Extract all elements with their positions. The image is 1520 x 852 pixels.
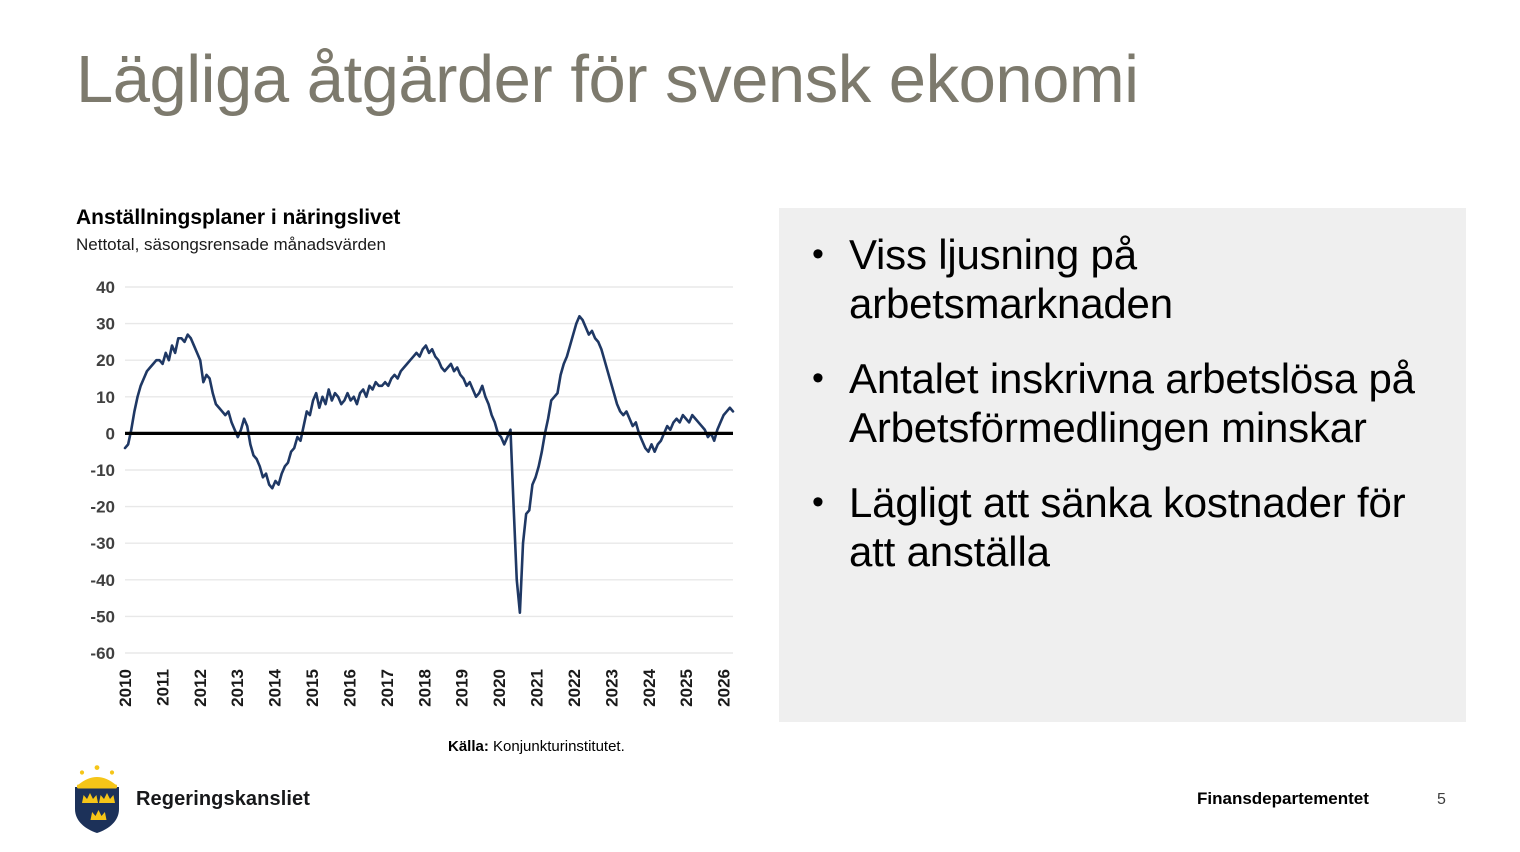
svg-text:2020: 2020 xyxy=(490,669,509,707)
key-points-panel: • Viss ljusning på arbetsmarknaden • Ant… xyxy=(779,208,1466,722)
svg-text:2024: 2024 xyxy=(640,668,659,706)
bullet-text: Viss ljusning på arbetsmarknaden xyxy=(849,230,1448,328)
swedish-three-crowns-emblem-icon xyxy=(70,765,124,833)
chart-source-note: Källa: Konjunkturinstitutet. xyxy=(448,738,625,755)
list-item: • Antalet inskrivna arbetslösa på Arbets… xyxy=(787,354,1448,452)
chart-x-axis-labels: 2010201120122013201420152016201720182019… xyxy=(116,668,734,706)
page-title: Lägliga åtgärder för svensk ekonomi xyxy=(76,46,1416,113)
svg-text:10: 10 xyxy=(96,388,115,407)
bullet-text: Lägligt att sänka kostnader för att anst… xyxy=(849,478,1448,576)
svg-text:2015: 2015 xyxy=(303,669,322,707)
bullet-dot-icon: • xyxy=(787,478,849,527)
svg-text:2025: 2025 xyxy=(677,669,696,707)
source-value: Konjunkturinstitutet. xyxy=(493,738,625,755)
svg-text:40: 40 xyxy=(96,278,115,297)
svg-text:2022: 2022 xyxy=(565,669,584,707)
chart-container: Anställningsplaner i näringslivet Nettot… xyxy=(76,205,756,765)
bullet-dot-icon: • xyxy=(787,230,849,279)
line-chart-svg: 403020100-10-20-30-40-50-60 201020112012… xyxy=(76,275,756,735)
footer-logo-text: Regeringskansliet xyxy=(136,788,310,811)
svg-text:2019: 2019 xyxy=(453,669,472,707)
chart-title: Anställningsplaner i näringslivet xyxy=(76,205,756,231)
svg-text:-40: -40 xyxy=(90,571,115,590)
source-label: Källa: xyxy=(448,738,489,755)
svg-text:-60: -60 xyxy=(90,644,115,663)
svg-text:2026: 2026 xyxy=(715,669,734,707)
svg-text:-30: -30 xyxy=(90,534,115,553)
page-number: 5 xyxy=(1437,791,1446,809)
svg-text:2018: 2018 xyxy=(415,669,434,707)
svg-text:2014: 2014 xyxy=(266,668,285,706)
chart-gridlines xyxy=(125,287,733,653)
chart-subtitle: Nettotal, säsongsrensade månadsvärden xyxy=(76,234,756,256)
svg-text:20: 20 xyxy=(96,351,115,370)
footer-logo: Regeringskansliet xyxy=(70,765,310,833)
bullet-dot-icon: • xyxy=(787,354,849,403)
list-item: • Lägligt att sänka kostnader för att an… xyxy=(787,478,1448,576)
svg-text:2017: 2017 xyxy=(378,669,397,707)
bullet-text: Antalet inskrivna arbetslösa på Arbetsfö… xyxy=(849,354,1448,452)
svg-text:30: 30 xyxy=(96,315,115,334)
svg-text:-50: -50 xyxy=(90,607,115,626)
svg-text:0: 0 xyxy=(106,424,115,443)
svg-text:-20: -20 xyxy=(90,498,115,517)
svg-text:2013: 2013 xyxy=(228,669,247,707)
footer-department: Finansdepartementet xyxy=(1197,789,1369,809)
list-item: • Viss ljusning på arbetsmarknaden xyxy=(787,230,1448,328)
chart-y-axis-labels: 403020100-10-20-30-40-50-60 xyxy=(90,278,115,663)
svg-text:2010: 2010 xyxy=(116,669,135,707)
svg-text:-10: -10 xyxy=(90,461,115,480)
svg-text:2012: 2012 xyxy=(191,669,210,707)
svg-text:2016: 2016 xyxy=(340,669,359,707)
chart-plot-area: 403020100-10-20-30-40-50-60 201020112012… xyxy=(76,275,756,735)
svg-text:2011: 2011 xyxy=(153,669,172,706)
svg-text:2023: 2023 xyxy=(602,669,621,707)
svg-text:2021: 2021 xyxy=(528,669,547,707)
